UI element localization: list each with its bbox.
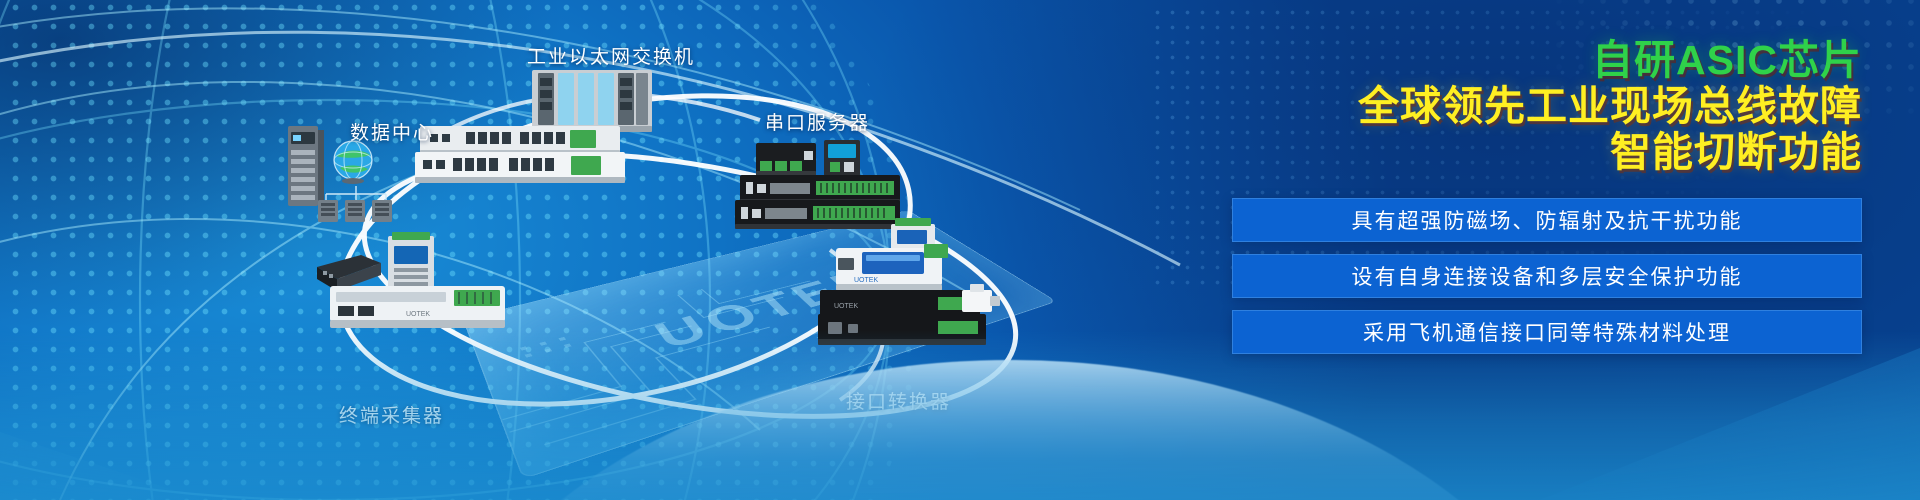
- feature-bullet-list: 具有超强防磁场、防辐射及抗干扰功能 设有自身连接设备和多层安全保护功能 采用飞机…: [1222, 198, 1862, 354]
- device-serial-server-lower: [735, 200, 900, 230]
- device-server-cluster: [316, 186, 396, 222]
- feature-bullet[interactable]: 设有自身连接设备和多层安全保护功能: [1232, 254, 1862, 298]
- label-serial-server: 串口服务器: [765, 108, 870, 135]
- feature-bullet[interactable]: 具有超强防磁场、防辐射及抗干扰功能: [1232, 198, 1862, 242]
- label-ethernet-switch: 工业以太网交换机: [527, 42, 695, 69]
- device-black-chassis-lower: [818, 314, 986, 346]
- bottom-fade: [0, 330, 1920, 500]
- label-data-center: 数据中心: [350, 118, 434, 145]
- facet-left: [0, 310, 380, 500]
- device-ethernet-switch-modular: [532, 70, 652, 132]
- headline-line-2: 全球领先工业现场总线故障: [1222, 84, 1862, 130]
- device-rj45-connector: [958, 284, 1002, 318]
- svg-text:UOTEK: UOTEK: [854, 277, 878, 284]
- device-rackmount-switch-lower: [415, 152, 625, 184]
- device-din-rail-converter: [820, 140, 868, 180]
- svg-text:UOTEK: UOTEK: [406, 311, 430, 318]
- promo-banner: UOTEK: [0, 0, 1920, 500]
- bottom-glow-dome: [420, 360, 1600, 500]
- device-terminal-collector-main: UOTEK: [330, 278, 505, 330]
- device-interface-converter-main: UOTEK: [832, 238, 952, 294]
- headline-line-3: 智能切断功能: [1222, 130, 1862, 176]
- svg-text:UOTEK: UOTEK: [834, 303, 858, 310]
- globe-grid-lines: [0, 0, 960, 500]
- marketing-copy: 自研ASIC芯片 全球领先工业现场总线故障 智能切断功能 具有超强防磁场、防辐射…: [1222, 38, 1862, 354]
- headline-line-1: 自研ASIC芯片: [1222, 38, 1862, 84]
- globe-dot-matrix: [0, 0, 920, 500]
- label-interface-converter: 接口转换器: [846, 387, 951, 414]
- feature-bullet[interactable]: 采用飞机通信接口同等特殊材料处理: [1232, 310, 1862, 354]
- device-serial-module-small: [756, 143, 816, 177]
- label-terminal-collector: 终端采集器: [339, 401, 444, 428]
